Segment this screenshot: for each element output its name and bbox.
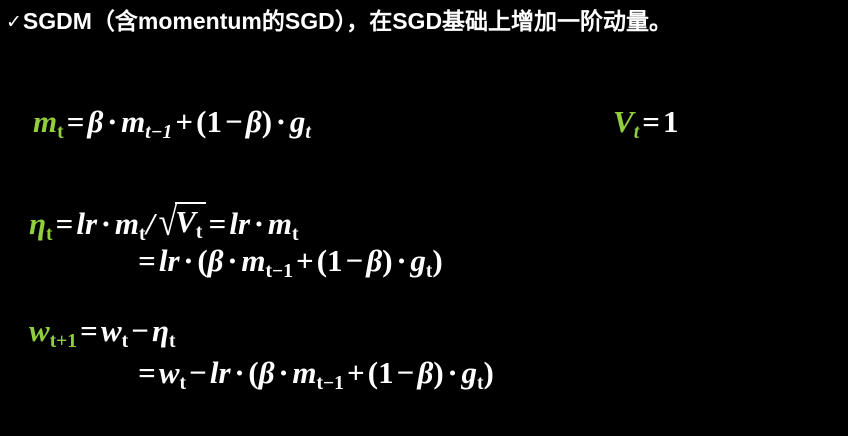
subscript-t-minus-1: t−1 <box>317 373 344 394</box>
paren-close: ) <box>483 355 493 390</box>
paren-close-2: ) <box>382 243 392 278</box>
operator-minus: − <box>222 104 246 139</box>
operator-plus: + <box>172 104 196 139</box>
operator-dot: · <box>231 355 249 390</box>
paren-open: ( <box>196 104 206 139</box>
operator-equals: = <box>135 243 159 278</box>
equation-weight-update-lhs: wt+1 <box>29 313 77 348</box>
subscript-t-minus-1: t−1 <box>265 261 292 282</box>
symbol-beta-2: β <box>366 243 382 278</box>
equation-step-size-line1: ηt=lr·mt/√Vt=lr·mt <box>29 198 298 244</box>
slide-title-text: SGDM（含momentum的SGD），在SGD基础上增加一阶动量。 <box>23 8 672 34</box>
operator-dot-2: · <box>250 206 268 241</box>
operator-dot: · <box>97 206 115 241</box>
subscript-t-3: t <box>196 222 203 243</box>
number-one: 1 <box>327 243 343 278</box>
paren-open: ( <box>197 243 207 278</box>
operator-dot-2: · <box>275 355 293 390</box>
slide-title: ✓SGDM（含momentum的SGD），在SGD基础上增加一阶动量。 <box>6 7 672 38</box>
paren-close: ) <box>432 243 442 278</box>
symbol-m: m <box>241 243 265 278</box>
checkmark-icon: ✓ <box>6 12 22 33</box>
symbol-m-2: m <box>268 206 292 241</box>
slide-canvas: ✓SGDM（含momentum的SGD），在SGD基础上增加一阶动量。 mt=β… <box>0 0 848 436</box>
operator-plus: + <box>344 355 368 390</box>
value-one: 1 <box>663 104 679 139</box>
symbol-beta: β <box>208 243 224 278</box>
number-one: 1 <box>378 355 394 390</box>
subscript-t: t <box>57 122 64 143</box>
symbol-lr: lr <box>210 355 231 390</box>
operator-dot: · <box>103 104 121 139</box>
paren-open-2: ( <box>317 243 327 278</box>
symbol-V: V <box>613 104 634 139</box>
equation-second-moment-lhs: Vt <box>613 104 639 139</box>
subscript-t-2: t <box>169 331 176 352</box>
operator-minus: − <box>343 243 367 278</box>
equation-weight-update-line2: =wt−lr·(β·mt−1+(1−β)·gt) <box>135 355 494 391</box>
operator-dot-2: · <box>224 243 242 278</box>
symbol-w: w <box>159 355 180 390</box>
operator-equals: = <box>53 206 77 241</box>
symbol-lr: lr <box>76 206 97 241</box>
equation-momentum: mt=β·mt−1+(1−β)·gt <box>33 104 311 140</box>
symbol-m: m <box>292 355 316 390</box>
operator-equals: = <box>135 355 159 390</box>
operator-dot-3: · <box>393 243 411 278</box>
sqrt-group: √Vt <box>155 198 205 244</box>
symbol-V: V <box>175 204 196 239</box>
subscript-t-plus-1: t+1 <box>50 331 77 352</box>
symbol-beta: β <box>87 104 103 139</box>
paren-open: ( <box>248 355 258 390</box>
equation-step-size-line2: =lr·(β·mt−1+(1−β)·gt) <box>135 243 443 279</box>
equation-step-size-lhs: ηt <box>29 206 53 241</box>
subscript-t-minus-1: t−1 <box>145 122 172 143</box>
operator-equals: = <box>77 313 101 348</box>
symbol-g: g <box>410 243 426 278</box>
symbol-g: g <box>461 355 477 390</box>
symbol-beta-2: β <box>246 104 262 139</box>
number-one: 1 <box>206 104 222 139</box>
subscript-t: t <box>46 224 53 245</box>
operator-minus: − <box>186 355 210 390</box>
operator-dot-2: · <box>272 104 290 139</box>
symbol-w: w <box>29 313 50 348</box>
radicand: Vt <box>175 202 206 240</box>
operator-equals-2: = <box>206 206 230 241</box>
operator-slash: / <box>145 206 155 241</box>
symbol-lr: lr <box>159 243 180 278</box>
symbol-beta: β <box>259 355 275 390</box>
equation-momentum-lhs: mt <box>33 104 64 139</box>
equation-second-moment: Vt=1 <box>613 104 678 140</box>
symbol-eta: η <box>29 206 46 241</box>
symbol-m-prev: m <box>121 104 145 139</box>
operator-dot-3: · <box>444 355 462 390</box>
symbol-lr-2: lr <box>229 206 250 241</box>
symbol-g: g <box>290 104 306 139</box>
operator-equals: = <box>639 104 663 139</box>
subscript-t-4: t <box>292 224 299 245</box>
operator-equals: = <box>64 104 88 139</box>
paren-close: ) <box>262 104 272 139</box>
operator-minus: − <box>128 313 152 348</box>
symbol-m: m <box>115 206 139 241</box>
operator-minus-2: − <box>394 355 418 390</box>
symbol-eta: η <box>152 313 169 348</box>
operator-plus: + <box>293 243 317 278</box>
equation-weight-update-line1: wt+1=wt−ηt <box>29 313 176 349</box>
subscript-t-2: t <box>305 122 310 143</box>
operator-dot: · <box>180 243 198 278</box>
symbol-w-2: w <box>101 313 122 348</box>
symbol-m: m <box>33 104 57 139</box>
symbol-beta-2: β <box>417 355 433 390</box>
paren-close-2: ) <box>433 355 443 390</box>
paren-open-2: ( <box>368 355 378 390</box>
